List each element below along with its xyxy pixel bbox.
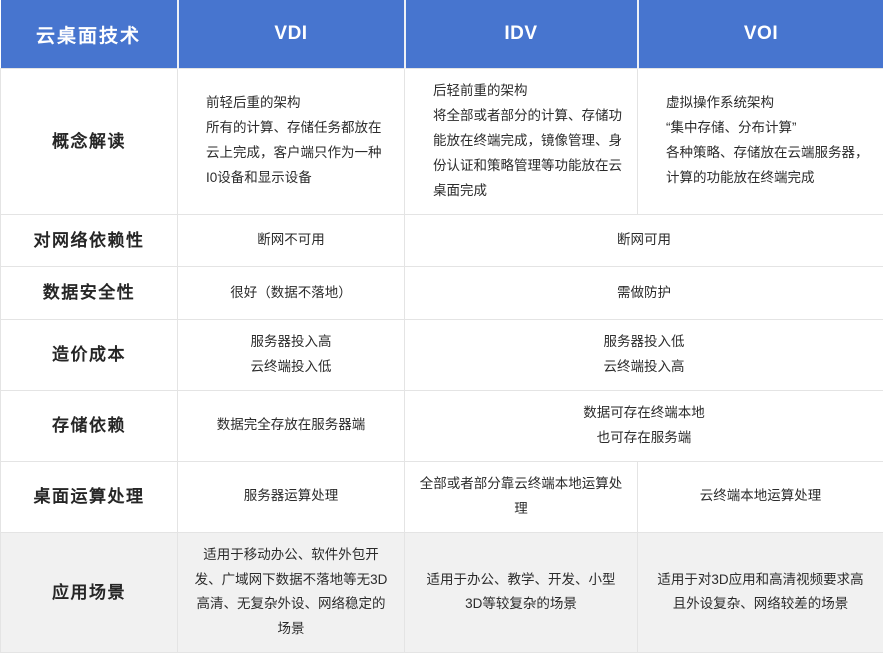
table-cell: 后轻前重的架构 将全部或者部分的计算、存储功能放在终端完成，镜像管理、身份认证和…	[405, 69, 638, 215]
row-label: 应用场景	[1, 532, 178, 653]
table-cell: 服务器投入高 云终端投入低	[178, 319, 405, 390]
cell-text: 前轻后重的架构 所有的计算、存储任务都放在云上完成，客户端只作为一种I0设备和显…	[206, 91, 390, 191]
table-cell: 很好（数据不落地）	[178, 267, 405, 319]
cell-text: 后轻前重的架构 将全部或者部分的计算、存储功能放在终端完成，镜像管理、身份认证和…	[433, 79, 623, 204]
table-row: 概念解读前轻后重的架构 所有的计算、存储任务都放在云上完成，客户端只作为一种I0…	[1, 69, 883, 215]
table-cell: 断网可用	[405, 214, 883, 266]
column-header-voi: VOI	[638, 0, 883, 69]
cell-text: 服务器投入高 云终端投入低	[192, 330, 390, 380]
table-row: 数据安全性很好（数据不落地）需做防护	[1, 267, 883, 319]
table-cell: 全部或者部分靠云终端本地运算处理	[405, 461, 638, 532]
table-cell: 虚拟操作系统架构 “集中存储、分布计算” 各种策略、存储放在云端服务器，计算的功…	[638, 69, 883, 215]
cell-text: 适用于对3D应用和高清视频要求高且外设复杂、网络较差的场景	[652, 568, 869, 618]
table-cell: 适用于对3D应用和高清视频要求高且外设复杂、网络较差的场景	[638, 532, 883, 653]
table-row: 桌面运算处理服务器运算处理全部或者部分靠云终端本地运算处理云终端本地运算处理	[1, 461, 883, 532]
table-cell: 数据可存在终端本地 也可存在服务端	[405, 390, 883, 461]
header-row: 云桌面技术 VDI IDV VOI	[1, 0, 883, 69]
row-label: 对网络依赖性	[1, 214, 178, 266]
cloud-desktop-comparison-table: 云桌面技术 VDI IDV VOI 概念解读前轻后重的架构 所有的计算、存储任务…	[0, 0, 883, 653]
table-cell: 服务器投入低 云终端投入高	[405, 319, 883, 390]
cell-text: 数据可存在终端本地 也可存在服务端	[419, 401, 869, 451]
cell-text: 全部或者部分靠云终端本地运算处理	[419, 472, 623, 522]
table-body: 概念解读前轻后重的架构 所有的计算、存储任务都放在云上完成，客户端只作为一种I0…	[1, 69, 883, 653]
row-label: 数据安全性	[1, 267, 178, 319]
table-row: 造价成本服务器投入高 云终端投入低服务器投入低 云终端投入高	[1, 319, 883, 390]
cell-text: 适用于移动办公、软件外包开发、广域网下数据不落地等无3D高清、无复杂外设、网络稳…	[192, 543, 390, 643]
cell-text: 服务器投入低 云终端投入高	[419, 330, 869, 380]
table-cell: 适用于移动办公、软件外包开发、广域网下数据不落地等无3D高清、无复杂外设、网络稳…	[178, 532, 405, 653]
table-cell: 服务器运算处理	[178, 461, 405, 532]
row-label: 存储依赖	[1, 390, 178, 461]
cell-text: 数据完全存放在服务器端	[192, 413, 390, 438]
cell-text: 很好（数据不落地）	[192, 281, 390, 306]
column-header-label: 云桌面技术	[1, 0, 178, 69]
row-label: 桌面运算处理	[1, 461, 178, 532]
table-row: 对网络依赖性断网不可用断网可用	[1, 214, 883, 266]
column-header-idv: IDV	[405, 0, 638, 69]
table-row: 存储依赖数据完全存放在服务器端数据可存在终端本地 也可存在服务端	[1, 390, 883, 461]
cell-text: 虚拟操作系统架构 “集中存储、分布计算” 各种策略、存储放在云端服务器，计算的功…	[666, 91, 869, 191]
table-cell: 适用于办公、教学、开发、小型3D等较复杂的场景	[405, 532, 638, 653]
table-cell: 需做防护	[405, 267, 883, 319]
table-cell: 云终端本地运算处理	[638, 461, 883, 532]
cell-text: 断网不可用	[192, 228, 390, 253]
cell-text: 服务器运算处理	[192, 484, 390, 509]
cell-text: 断网可用	[419, 228, 869, 253]
table-cell: 数据完全存放在服务器端	[178, 390, 405, 461]
row-label: 造价成本	[1, 319, 178, 390]
cell-text: 适用于办公、教学、开发、小型3D等较复杂的场景	[419, 568, 623, 618]
column-header-vdi: VDI	[178, 0, 405, 69]
table-header: 云桌面技术 VDI IDV VOI	[1, 0, 883, 69]
table-cell: 断网不可用	[178, 214, 405, 266]
cell-text: 云终端本地运算处理	[652, 484, 869, 509]
table-cell: 前轻后重的架构 所有的计算、存储任务都放在云上完成，客户端只作为一种I0设备和显…	[178, 69, 405, 215]
table-row: 应用场景适用于移动办公、软件外包开发、广域网下数据不落地等无3D高清、无复杂外设…	[1, 532, 883, 653]
row-label: 概念解读	[1, 69, 178, 215]
cell-text: 需做防护	[419, 281, 869, 306]
